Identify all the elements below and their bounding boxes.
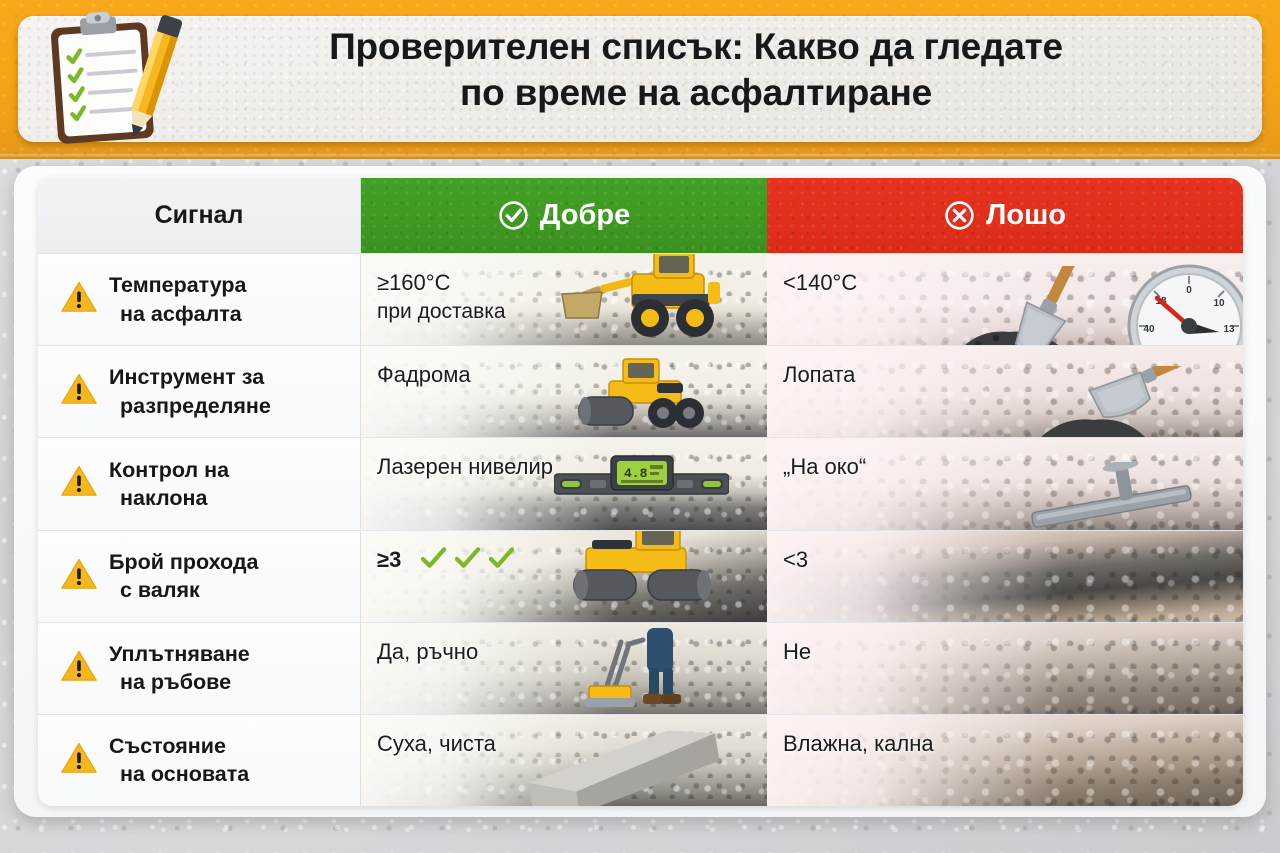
column-header-bad-label: Лошо	[986, 199, 1066, 232]
signal-cell: Инструмент за разпределяне	[38, 346, 361, 437]
signal-cell: Състояние на основата	[38, 715, 361, 806]
column-header-good: Добре	[361, 178, 767, 253]
warning-triangle-icon	[60, 280, 98, 319]
column-header-signal: Сигнал	[38, 178, 361, 253]
bad-cell: Лопата	[767, 346, 1243, 437]
bad-cell: 0 10 13 20 0 40 40 18 <140°C	[767, 254, 1243, 345]
column-header-bad: Лошо	[767, 178, 1243, 253]
good-cell: 4.8 Лазерен нивелир	[361, 438, 767, 529]
table-row: Инструмент за разпределяне	[38, 345, 1243, 437]
good-cell: Суха, чиста	[361, 715, 767, 806]
column-header-good-label: Добре	[540, 199, 630, 232]
signal-label: Контрол на наклона	[109, 456, 229, 513]
table-row: Уплътняване на ръбове	[38, 622, 1243, 714]
banner-divider	[0, 154, 1280, 159]
good-cell: Да, ръчно	[361, 623, 767, 714]
bad-value: <3	[767, 531, 808, 575]
column-header-signal-label: Сигнал	[155, 201, 244, 230]
table-header-row: Сигнал Добре Лошо	[38, 178, 1243, 253]
bad-cell: Влажна, кална	[767, 715, 1243, 806]
bad-cell: „На око“	[767, 438, 1243, 529]
good-cell: ≥3	[361, 531, 767, 622]
bad-value: Лопата	[767, 346, 855, 390]
bad-value: Не	[767, 623, 811, 667]
bad-cell: Не	[767, 623, 1243, 714]
signal-label: Състояние на основата	[109, 732, 249, 789]
table-row: Състояние на основата Суха, чиста	[38, 714, 1243, 806]
warning-triangle-icon	[60, 557, 98, 596]
warning-triangle-icon	[60, 372, 98, 411]
good-value: Суха, чиста	[361, 715, 496, 759]
page-title-line2: по време на асфалтиране	[460, 72, 932, 113]
warning-triangle-icon	[60, 649, 98, 688]
signal-cell: Уплътняване на ръбове	[38, 623, 361, 714]
table-row: Контрол на наклона	[38, 437, 1243, 529]
header-banner: Проверителен списък: Какво да гледате по…	[0, 0, 1280, 159]
warning-triangle-icon	[60, 741, 98, 780]
page-title-line1: Проверителен списък: Какво да гледате	[329, 26, 1063, 67]
x-circle-icon	[944, 200, 975, 231]
signal-label: Брой прохода с валяк	[109, 548, 259, 605]
signal-label: Инструмент за разпределяне	[109, 363, 271, 420]
signal-label: Уплътняване на ръбове	[109, 640, 250, 697]
warning-triangle-icon	[60, 464, 98, 503]
good-cell: Фадрома	[361, 346, 767, 437]
signal-cell: Температура на асфалта	[38, 254, 361, 345]
bad-value: „На око“	[767, 438, 866, 482]
page-title: Проверителен списък: Какво да гледате по…	[196, 24, 1196, 115]
clipboard-pencil-icon	[32, 8, 202, 148]
signal-label: Температура на асфалта	[109, 271, 247, 328]
checklist-table: Сигнал Добре Лошо	[38, 178, 1243, 806]
bad-cell: <3	[767, 531, 1243, 622]
check-marks	[421, 547, 514, 569]
table-row: Температура на асфалта	[38, 253, 1243, 345]
good-value: Лазерен нивелир	[361, 438, 553, 482]
cracked-road-photo	[767, 531, 1243, 622]
signal-cell: Брой прохода с валяк	[38, 531, 361, 622]
check-circle-icon	[498, 200, 529, 231]
good-value: ≥3	[361, 531, 514, 575]
good-cell: ≥160°C при доставка	[361, 254, 767, 345]
signal-cell: Контрол на наклона	[38, 438, 361, 529]
broken-edge-photo	[767, 623, 1243, 714]
table-row: Брой прохода с валяк ≥3	[38, 530, 1243, 622]
bad-value: Влажна, кална	[767, 715, 934, 759]
bad-value: <140°C	[767, 254, 857, 298]
good-value: ≥160°C при доставка	[361, 254, 506, 326]
good-value: Фадрома	[361, 346, 471, 390]
good-value: Да, ръчно	[361, 623, 478, 667]
